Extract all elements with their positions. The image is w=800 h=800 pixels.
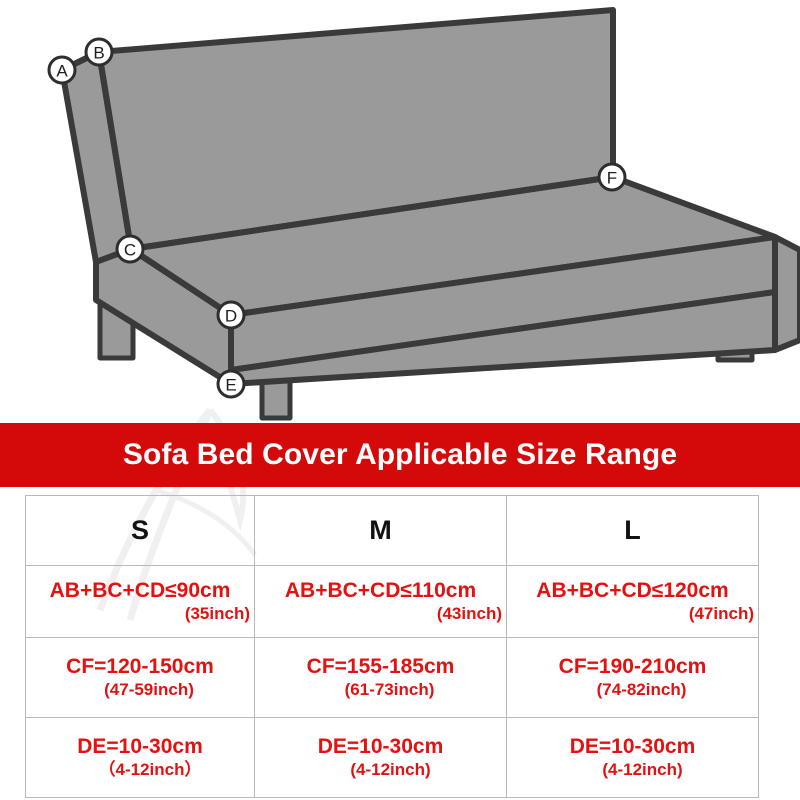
point-label-B: B <box>93 44 104 63</box>
table-header-row: S M L <box>26 496 759 566</box>
value-inch: (47inch) <box>507 604 758 624</box>
size-label-s: S <box>131 515 149 545</box>
table-row-de: DE=10-30cm （4-12inch） DE=10-30cm (4-12in… <box>26 718 759 798</box>
value-cm: CF=155-185cm <box>255 655 506 680</box>
value-cm: CF=120-150cm <box>26 655 254 680</box>
size-label-m: M <box>369 515 392 545</box>
cell-ab-l: AB+BC+CD≤120cm (47inch) <box>507 566 759 638</box>
header-cell-s: S <box>26 496 255 566</box>
value-cm: DE=10-30cm <box>26 735 254 760</box>
cell-de-s: DE=10-30cm （4-12inch） <box>26 718 255 798</box>
product-size-chart-page: A B C D E <box>0 0 800 800</box>
value-cm: AB+BC+CD≤120cm <box>507 579 758 604</box>
value-cm: DE=10-30cm <box>255 735 506 760</box>
point-label-C: C <box>124 241 136 260</box>
point-label-F: F <box>607 169 617 188</box>
value-inch: (74-82inch) <box>507 680 758 700</box>
point-marker-E: E <box>218 371 244 397</box>
banner: Sofa Bed Cover Applicable Size Range <box>0 423 800 487</box>
value-inch: (35inch) <box>26 604 254 624</box>
value-cm: DE=10-30cm <box>507 735 758 760</box>
cell-cf-l: CF=190-210cm (74-82inch) <box>507 638 759 718</box>
value-cm: AB+BC+CD≤90cm <box>26 579 254 604</box>
base-right-side-panel <box>775 237 800 350</box>
cell-ab-s: AB+BC+CD≤90cm (35inch) <box>26 566 255 638</box>
size-label-l: L <box>624 515 641 545</box>
value-inch: (47-59inch) <box>26 680 254 700</box>
header-cell-l: L <box>507 496 759 566</box>
value-cm: AB+BC+CD≤110cm <box>255 579 506 604</box>
cell-ab-m: AB+BC+CD≤110cm (43inch) <box>255 566 507 638</box>
cell-de-l: DE=10-30cm (4-12inch) <box>507 718 759 798</box>
table-row-cf: CF=120-150cm (47-59inch) CF=155-185cm (6… <box>26 638 759 718</box>
point-marker-A: A <box>49 57 75 83</box>
point-label-D: D <box>225 307 237 326</box>
point-marker-C: C <box>117 236 143 262</box>
value-inch: (4-12inch) <box>255 760 506 780</box>
value-inch: (61-73inch) <box>255 680 506 700</box>
table-row-ab-bc-cd: AB+BC+CD≤90cm (35inch) AB+BC+CD≤110cm (4… <box>26 566 759 638</box>
header-cell-m: M <box>255 496 507 566</box>
point-marker-D: D <box>218 302 244 328</box>
sofa-diagram-area: A B C D E <box>0 0 800 423</box>
value-inch: (4-12inch) <box>507 760 758 780</box>
point-label-A: A <box>56 62 68 81</box>
point-marker-F: F <box>599 164 625 190</box>
value-inch: (43inch) <box>255 604 506 624</box>
size-range-table: S M L AB+BC+CD≤90cm (35inch) AB+BC+CD≤11… <box>25 495 759 798</box>
value-inch: （4-12inch） <box>26 760 254 780</box>
point-label-E: E <box>225 376 236 395</box>
sofa-illustration: A B C D E <box>0 0 800 423</box>
banner-title: Sofa Bed Cover Applicable Size Range <box>123 438 677 472</box>
value-cm: CF=190-210cm <box>507 655 758 680</box>
cell-cf-m: CF=155-185cm (61-73inch) <box>255 638 507 718</box>
cell-de-m: DE=10-30cm (4-12inch) <box>255 718 507 798</box>
cell-cf-s: CF=120-150cm (47-59inch) <box>26 638 255 718</box>
point-marker-B: B <box>86 39 112 65</box>
